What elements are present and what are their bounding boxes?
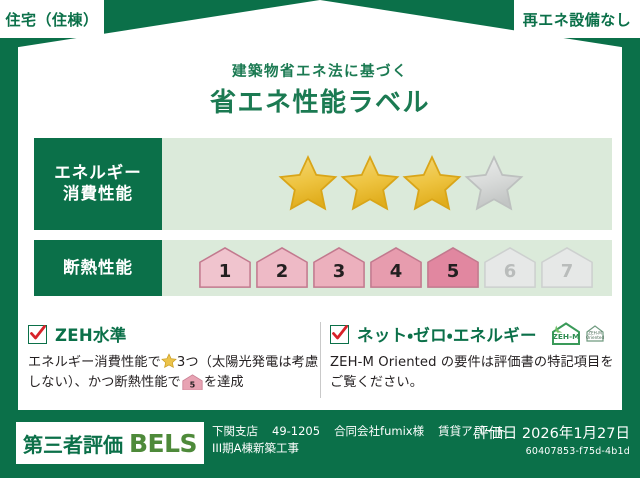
star-icon-filled xyxy=(401,153,463,215)
svg-text:Oriented: Oriented xyxy=(586,335,605,340)
house-level-number: 7 xyxy=(561,263,574,290)
evaluation-date-block: 評価日 2026年1月27日 60407853-f75d-4b1d xyxy=(474,422,630,457)
bels-certification-badge: 第三者評価 BELS xyxy=(16,422,204,464)
bels-en-label: BELS xyxy=(129,429,197,458)
inline-star-icon xyxy=(161,353,177,369)
zeh-standard-panel: ZEH水準 エネルギー消費性能で 3つ（太陽光発電は考慮しない）、かつ断熱性能で… xyxy=(28,322,324,394)
house-level-number: 1 xyxy=(219,263,232,290)
star-icon-empty xyxy=(463,153,525,215)
house-icon-inactive: 7 xyxy=(540,246,594,290)
zeh-standard-header: ZEH水準 xyxy=(28,322,324,346)
house-icon-achieved: 1 xyxy=(198,246,252,290)
net-zero-energy-header: ネット・ゼロ・エネルギー ZEH-M ZEH-M Oriented xyxy=(330,322,626,346)
house-level-number: 3 xyxy=(333,263,346,290)
energy-key-line1: エネルギー xyxy=(54,163,142,184)
energy-performance-rating xyxy=(162,138,612,230)
zeh-desc-post: を達成 xyxy=(204,375,244,390)
insulation-key-line1: 断熱性能 xyxy=(63,258,133,279)
house-icon-achieved: 3 xyxy=(312,246,366,290)
zeh-standard-checkbox[interactable] xyxy=(28,325,47,344)
bels-jp-label: 第三者評価 xyxy=(23,429,123,458)
house-icon-inactive: 6 xyxy=(483,246,537,290)
zeh-desc-pre: エネルギー消費性能で xyxy=(28,355,161,370)
insulation-performance-label-key: 断熱性能 xyxy=(34,240,162,296)
star-icon-filled xyxy=(339,153,401,215)
net-zero-energy-checkbox[interactable] xyxy=(330,325,349,344)
label-title: 省エネ性能ラベル xyxy=(0,82,640,119)
house-icon-achieved: 4 xyxy=(369,246,423,290)
energy-performance-row: エネルギー 消費性能 xyxy=(34,138,612,230)
house-level-number: 6 xyxy=(504,263,517,290)
net-zero-energy-description: ZEH-M Oriented の要件は評価書の特記項目をご覧ください。 xyxy=(330,353,626,394)
house-level-scale: 1234567 xyxy=(198,246,594,290)
footer-bar: 第三者評価 BELS 下関支店49-1205合同会社fumix様賃貸アパート I… xyxy=(0,410,640,478)
zeh-standard-title: ZEH水準 xyxy=(55,322,127,346)
project-number: 49-1205 xyxy=(272,424,320,438)
zeh-m-logo: ZEH-M ZEH-M Oriented xyxy=(549,321,606,347)
client-name: 合同会社fumix様 xyxy=(334,424,424,438)
house-icon-achieved: 2 xyxy=(255,246,309,290)
star-rating xyxy=(277,153,525,215)
label-subtitle: 建築物省エネ法に基づく xyxy=(0,60,640,81)
energy-performance-label-key: エネルギー 消費性能 xyxy=(34,138,162,230)
house-level-number: 4 xyxy=(390,263,403,290)
net-zero-energy-title: ネット・ゼロ・エネルギー xyxy=(357,322,537,346)
evaluation-date: 評価日 2026年1月27日 xyxy=(474,422,630,443)
house-level-number: 5 xyxy=(447,263,460,290)
insulation-performance-row: 断熱性能 1234567 xyxy=(34,240,612,296)
renewable-equipment-tag: 再エネ設備なし xyxy=(514,0,640,38)
house-icon-achieved: 5 xyxy=(426,246,480,290)
svg-text:ZEH-M: ZEH-M xyxy=(552,332,579,341)
insulation-performance-rating: 1234567 xyxy=(162,240,612,296)
building-type-tag: 住宅（住棟） xyxy=(0,0,104,38)
net-zero-energy-panel: ネット・ゼロ・エネルギー ZEH-M ZEH-M Oriented ZEH-M … xyxy=(330,322,626,394)
house-level-number: 2 xyxy=(276,263,289,290)
star-icon-filled xyxy=(277,153,339,215)
document-id: 60407853-f75d-4b1d xyxy=(474,446,630,457)
energy-key-line2: 消費性能 xyxy=(63,184,133,205)
zeh-standard-description: エネルギー消費性能で 3つ（太陽光発電は考慮しない）、かつ断熱性能で 5 を達成 xyxy=(28,353,324,394)
inline-house-badge: 5 xyxy=(182,374,203,391)
energy-performance-label: 住宅（住棟） 再エネ設備なし 建築物省エネ法に基づく 省エネ性能ラベル エネルギ… xyxy=(0,0,640,478)
svg-text:5: 5 xyxy=(190,380,196,389)
branch-name: 下関支店 xyxy=(212,424,258,438)
